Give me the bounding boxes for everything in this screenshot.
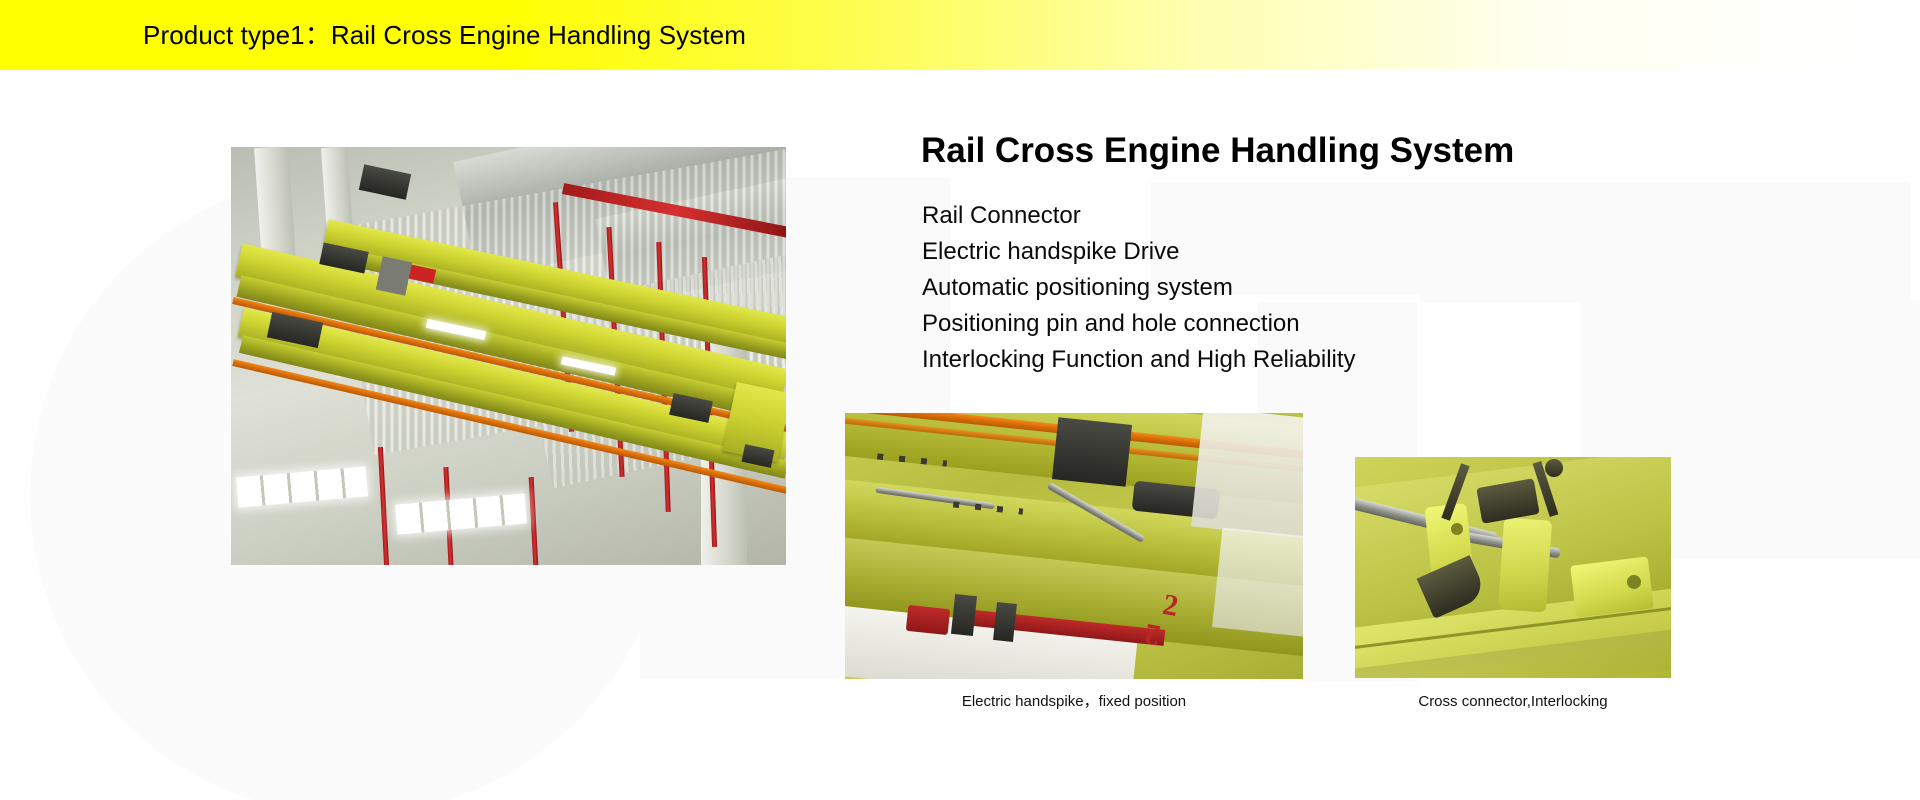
- caption-cross-connector: Cross connector,Interlocking: [1355, 692, 1671, 712]
- feature-item: Positioning pin and hole connection: [922, 306, 1356, 342]
- photo-main-scene: [231, 147, 786, 565]
- photo-handspike-scene: 2 2: [845, 413, 1303, 679]
- feature-item: Interlocking Function and High Reliabili…: [922, 342, 1356, 378]
- connector-claw-right: [1498, 517, 1552, 612]
- connector-socket-block: [1570, 556, 1654, 617]
- connector-pivot-pin: [1545, 459, 1563, 477]
- feature-item: Rail Connector: [922, 198, 1356, 234]
- handspike-bracket-2: [993, 602, 1017, 642]
- photo-electric-handspike: 2 2: [845, 413, 1303, 679]
- header-bar: Product type1：Rail Cross Engine Handling…: [0, 0, 1920, 70]
- handspike-drive-unit: [1052, 417, 1132, 486]
- connector-claw-hole: [1451, 523, 1463, 535]
- handspike-wall-right-2: [1212, 528, 1303, 639]
- feature-list: Rail Connector Electric handspike Drive …: [922, 198, 1356, 378]
- header-title: Product type1：Rail Cross Engine Handling…: [143, 18, 746, 52]
- handspike-limit-switch: [906, 605, 950, 635]
- slide-canvas: Product type1：Rail Cross Engine Handling…: [0, 0, 1920, 800]
- feature-item: Electric handspike Drive: [922, 234, 1356, 270]
- photo-connector-scene: [1355, 457, 1671, 678]
- photo-rail-cross-system: [231, 147, 786, 565]
- page-title: Rail Cross Engine Handling System: [921, 129, 1514, 173]
- photo-cross-connector: [1355, 457, 1671, 678]
- handspike-bracket-1: [951, 594, 977, 636]
- caption-electric-handspike: Electric handspike，fixed position: [845, 692, 1303, 712]
- handspike-wall-right: [1191, 413, 1303, 539]
- feature-item: Automatic positioning system: [922, 270, 1356, 306]
- watermark-block-3: [1420, 182, 1910, 302]
